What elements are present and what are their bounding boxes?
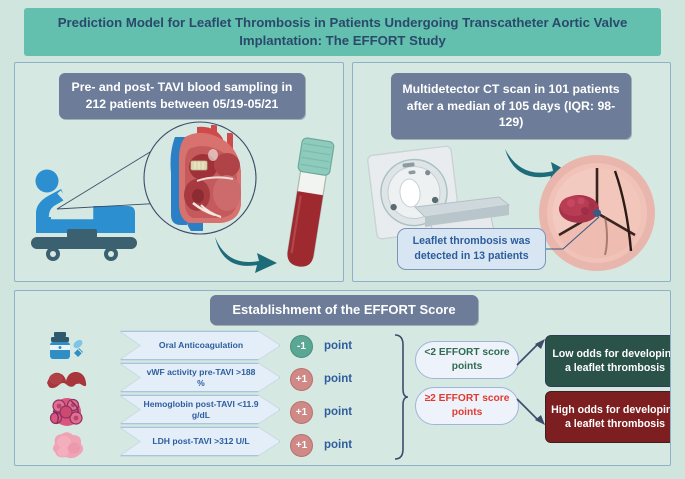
points-row: +1 point bbox=[290, 397, 400, 427]
score-icon-row bbox=[45, 331, 107, 361]
panel-effort-score: Establishment of the EFFORT Score bbox=[14, 290, 671, 466]
criteria-chevron: vWF activity pre-TAVI >188 % bbox=[120, 363, 280, 392]
outcome-low-odds: Low odds for developing a leaflet thromb… bbox=[545, 335, 671, 387]
blood-panel-header: Pre- and post- TAVI blood sampling in 21… bbox=[59, 73, 305, 119]
criteria-label: Oral Anticoagulation bbox=[120, 331, 280, 360]
curved-arrow-icon bbox=[211, 231, 281, 277]
threshold-pill-low: <2 EFFORT score points bbox=[415, 341, 519, 379]
heart-cross-section-icon bbox=[141, 119, 259, 237]
points-unit: point bbox=[324, 340, 352, 352]
graphical-abstract: Prediction Model for Leaflet Thrombosis … bbox=[0, 0, 685, 479]
panel-ct-scan: Multidetector CT scan in 101 patients af… bbox=[352, 62, 671, 282]
score-icon-column bbox=[45, 331, 107, 463]
points-badge: -1 bbox=[290, 335, 313, 358]
score-icon-row bbox=[45, 364, 107, 394]
page-title-text: Prediction Model for Leaflet Thrombosis … bbox=[38, 14, 647, 50]
page-title: Prediction Model for Leaflet Thrombosis … bbox=[24, 8, 661, 56]
score-panel-header: Establishment of the EFFORT Score bbox=[210, 295, 478, 325]
criteria-chevron: Oral Anticoagulation bbox=[120, 331, 280, 360]
vwf-multimer-icon bbox=[45, 364, 91, 394]
ct-panel-header: Multidetector CT scan in 101 patients af… bbox=[391, 73, 631, 139]
score-points-column: -1 point +1 point +1 point +1 point bbox=[290, 331, 400, 463]
score-icon-row bbox=[45, 430, 107, 460]
points-row: -1 point bbox=[290, 331, 400, 361]
cell-cluster-icon bbox=[45, 430, 91, 460]
blood-collection-tube-icon bbox=[273, 137, 343, 277]
red-blood-cells-icon bbox=[45, 397, 91, 427]
score-icon-row bbox=[45, 397, 107, 427]
medication-bottle-icon bbox=[45, 331, 91, 361]
points-badge: +1 bbox=[290, 368, 313, 391]
points-row: +1 point bbox=[290, 430, 400, 460]
points-unit: point bbox=[324, 373, 352, 385]
grouping-brace bbox=[393, 333, 409, 461]
criteria-chevron: LDH post-TAVI >312 U/L bbox=[120, 427, 280, 456]
arrow-to-high-odds-icon bbox=[515, 395, 549, 427]
criteria-label: Hemoglobin post-TAVI <11.9 g/dL bbox=[120, 395, 280, 424]
points-unit: point bbox=[324, 439, 352, 451]
score-criteria-column: Oral Anticoagulation vWF activity pre-TA… bbox=[120, 331, 280, 459]
arrow-to-low-odds-icon bbox=[515, 337, 549, 369]
points-unit: point bbox=[324, 406, 352, 418]
panel-blood-sampling: Pre- and post- TAVI blood sampling in 21… bbox=[14, 62, 344, 282]
criteria-chevron: Hemoglobin post-TAVI <11.9 g/dL bbox=[120, 395, 280, 424]
outcome-high-odds: High odds for developing a leaflet throm… bbox=[545, 391, 671, 443]
points-badge: +1 bbox=[290, 401, 313, 424]
points-badge: +1 bbox=[290, 434, 313, 457]
threshold-pill-high: ≥2 EFFORT score points bbox=[415, 387, 519, 425]
points-row: +1 point bbox=[290, 364, 400, 394]
criteria-label: vWF activity pre-TAVI >188 % bbox=[120, 363, 280, 392]
callout-leader-line bbox=[539, 213, 603, 273]
leaflet-thrombosis-callout: Leaflet thrombosis was detected in 13 pa… bbox=[397, 228, 546, 270]
criteria-label: LDH post-TAVI >312 U/L bbox=[120, 427, 280, 456]
